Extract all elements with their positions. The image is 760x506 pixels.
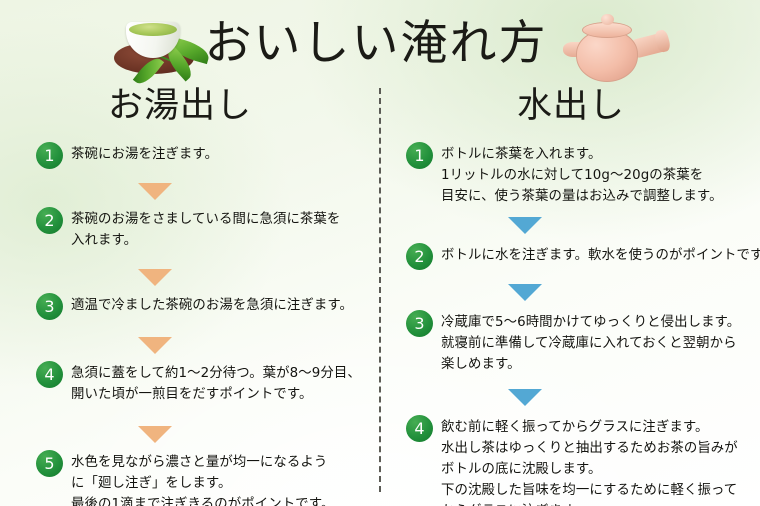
- step-text-line: 楽しめます。: [441, 354, 746, 375]
- step-text-line: 茶碗にお湯を注ぎます。: [71, 144, 366, 165]
- step-text-line: 目安に、使う茶葉の量はお込みで調整します。: [441, 186, 746, 207]
- step-text-block: ボトルに茶葉を入れます。1リットルの水に対して10g〜20gの茶葉を目安に、使う…: [441, 142, 746, 207]
- teapot-icon: [556, 8, 674, 90]
- step-text-line: 下の沈殿した旨味を均一にするために軽く振って: [441, 480, 746, 501]
- step-arrow-icon: [138, 183, 172, 200]
- poster-canvas: おいしい淹れ方 お湯出し 水出し 1茶碗にお湯を注ぎます。2茶碗のお湯をさまして…: [0, 0, 760, 506]
- column-header-cold: 水出し: [513, 84, 629, 128]
- step-number-badge: 1: [36, 142, 63, 169]
- step-text-block: 飲む前に軽く振ってからグラスに注ぎます。水出し茶はゆっくりと抽出するためお茶の旨…: [441, 415, 746, 506]
- step-number-badge: 3: [36, 293, 63, 320]
- step-text-line: に「廻し注ぎ」をします。: [71, 473, 366, 494]
- cup-tea-surface: [129, 23, 177, 36]
- step-text-block: 急須に蓋をして約1〜2分待つ。葉が8〜9分目、開いた頃が一煎目をだすポイントです…: [71, 361, 366, 405]
- step-row: 4急須に蓋をして約1〜2分待つ。葉が8〜9分目、開いた頃が一煎目をだすポイントで…: [36, 361, 366, 405]
- step-text-line: 飲む前に軽く振ってからグラスに注ぎます。: [441, 417, 746, 438]
- step-row: 2茶碗のお湯をさましている間に急須に茶葉を入れます。: [36, 207, 366, 251]
- steps-column-hot: 1茶碗にお湯を注ぎます。2茶碗のお湯をさましている間に急須に茶葉を入れます。3適…: [36, 142, 366, 506]
- column-divider: [379, 88, 381, 492]
- page-title: おいしい淹れ方: [196, 8, 556, 80]
- step-row: 3適温で冷ました茶碗のお湯を急須に注ぎます。: [36, 293, 366, 320]
- step-text-line: からグラスに注ぎます。: [441, 501, 746, 506]
- step-number-badge: 1: [406, 142, 433, 169]
- step-text-block: 適温で冷ました茶碗のお湯を急須に注ぎます。: [71, 293, 366, 316]
- step-number-badge: 3: [406, 310, 433, 337]
- column-header-cold-label: 水出し: [513, 84, 629, 128]
- step-text-line: 冷蔵庫で5〜6時間かけてゆっくりと侵出します。: [441, 312, 746, 333]
- step-text-line: 水色を見ながら濃さと量が均一になるよう: [71, 452, 366, 473]
- step-text-line: ボトルに茶葉を入れます。: [441, 144, 746, 165]
- title-row: おいしい淹れ方: [0, 2, 760, 90]
- step-text-line: 急須に蓋をして約1〜2分待つ。葉が8〜9分目、: [71, 363, 366, 384]
- step-row: 1茶碗にお湯を注ぎます。: [36, 142, 366, 169]
- steps-column-cold: 1ボトルに茶葉を入れます。1リットルの水に対して10g〜20gの茶葉を目安に、使…: [406, 142, 746, 506]
- step-row: 2ボトルに水を注ぎます。軟水を使うのがポイントです。: [406, 243, 746, 270]
- step-text-line: 最後の1滴まで注ぎきるのがポイントです。: [71, 494, 366, 506]
- step-row: 4飲む前に軽く振ってからグラスに注ぎます。水出し茶はゆっくりと抽出するためお茶の…: [406, 415, 746, 506]
- step-text-block: 冷蔵庫で5〜6時間かけてゆっくりと侵出します。就寝前に準備して冷蔵庫に入れておく…: [441, 310, 746, 375]
- step-arrow-icon: [508, 389, 542, 406]
- step-text-line: 水出し茶はゆっくりと抽出するためお茶の旨みが: [441, 438, 746, 459]
- step-text-line: ボトルに水を注ぎます。軟水を使うのがポイントです。: [441, 245, 760, 266]
- step-text-block: 茶碗のお湯をさましている間に急須に茶葉を入れます。: [71, 207, 366, 251]
- column-header-hot: お湯出し: [104, 84, 256, 128]
- step-number-badge: 2: [406, 243, 433, 270]
- step-number-badge: 5: [36, 450, 63, 477]
- step-text-block: 水色を見ながら濃さと量が均一になるように「廻し注ぎ」をします。最後の1滴まで注ぎ…: [71, 450, 366, 506]
- step-text-line: 就寝前に準備して冷蔵庫に入れておくと翌朝から: [441, 333, 746, 354]
- step-number-badge: 4: [36, 361, 63, 388]
- step-arrow-icon: [138, 337, 172, 354]
- step-row: 1ボトルに茶葉を入れます。1リットルの水に対して10g〜20gの茶葉を目安に、使…: [406, 142, 746, 207]
- step-arrow-icon: [138, 269, 172, 286]
- step-text-line: 茶碗のお湯をさましている間に急須に茶葉を: [71, 209, 366, 230]
- step-arrow-icon: [508, 284, 542, 301]
- step-text-line: 1リットルの水に対して10g〜20gの茶葉を: [441, 165, 746, 186]
- step-text-block: 茶碗にお湯を注ぎます。: [71, 142, 366, 165]
- step-text-line: ボトルの底に沈殿します。: [441, 459, 746, 480]
- step-text-line: 開いた頃が一煎目をだすポイントです。: [71, 384, 366, 405]
- step-row: 5水色を見ながら濃さと量が均一になるように「廻し注ぎ」をします。最後の1滴まで注…: [36, 450, 366, 506]
- column-header-hot-label: お湯出し: [104, 84, 256, 128]
- step-arrow-icon: [508, 217, 542, 234]
- step-row: 3冷蔵庫で5〜6時間かけてゆっくりと侵出します。就寝前に準備して冷蔵庫に入れてお…: [406, 310, 746, 375]
- step-number-badge: 2: [36, 207, 63, 234]
- step-arrow-icon: [138, 426, 172, 443]
- step-text-block: ボトルに水を注ぎます。軟水を使うのがポイントです。: [441, 243, 760, 266]
- step-number-badge: 4: [406, 415, 433, 442]
- teapot-knob-shape: [601, 14, 614, 25]
- step-text-line: 入れます。: [71, 230, 366, 251]
- step-text-line: 適温で冷ました茶碗のお湯を急須に注ぎます。: [71, 295, 366, 316]
